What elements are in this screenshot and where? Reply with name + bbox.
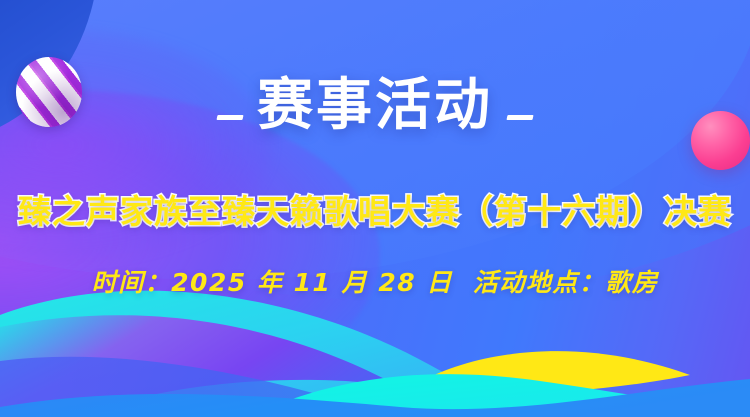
background-arc-secondary [0, 0, 750, 300]
event-banner: 赛事活动 臻之声家族至臻天籁歌唱大赛（第十六期）决赛 时间：2025 年 11 … [0, 0, 750, 417]
wave-cyan-upper [0, 291, 750, 417]
wave-purple-lens [0, 315, 400, 417]
wave-blue-base [0, 379, 750, 417]
place-label: 活动地点： [473, 268, 606, 297]
wave-yellow-lens [406, 351, 690, 394]
background-purple-glow [0, 90, 380, 417]
background-arc-primary [0, 0, 750, 280]
dash-icon-left [216, 115, 243, 120]
event-subtitle: 臻之声家族至臻天籁歌唱大赛（第十六期）决赛 [0, 194, 750, 230]
main-title-row: 赛事活动 [0, 78, 750, 134]
time-value: 2025 年 11 月 28 日 [171, 268, 453, 297]
event-meta-row: 时间：2025 年 11 月 28 日活动地点：歌房 [0, 263, 750, 299]
time-label: 时间： [92, 268, 172, 297]
page-title: 赛事活动 [257, 78, 493, 134]
dash-icon-right [506, 115, 533, 120]
wave-cyan-right [250, 374, 750, 417]
wave-indigo-ribbon [0, 357, 360, 417]
place-value: 歌房 [605, 268, 658, 297]
